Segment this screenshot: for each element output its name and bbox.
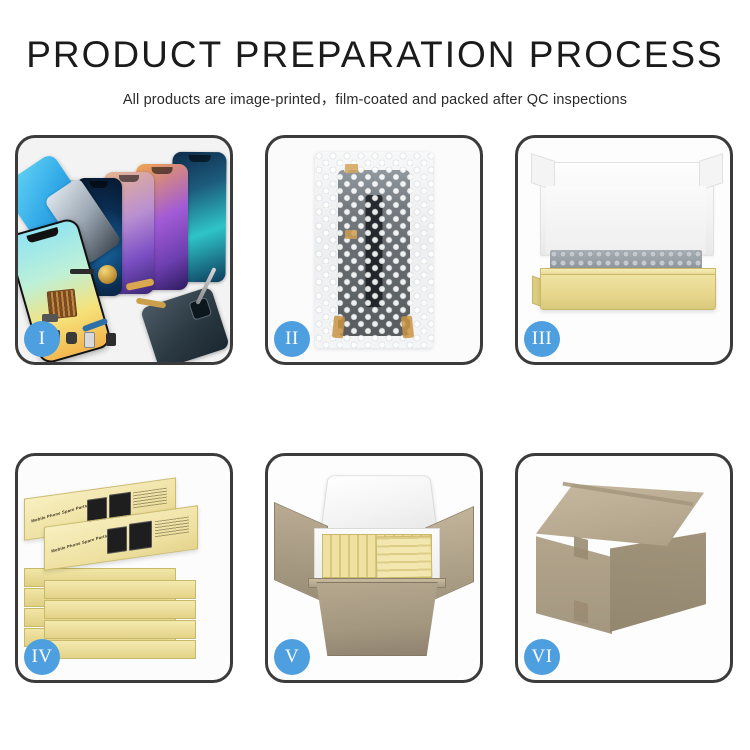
step-badge-i: I [24,321,60,357]
product-preparation-infographic: PRODUCT PREPARATION PROCESS All products… [0,0,750,750]
step-badge-vi: VI [524,639,560,675]
tape-piece-icon [574,536,588,560]
notch-icon [90,181,108,188]
phone-back-housing-icon [140,286,230,365]
notch-icon [26,227,59,244]
earpiece-speaker-icon [70,269,94,274]
yellow-inner-box-icon [540,274,716,310]
step-panel-ii: II [265,135,483,365]
stacked-box-icon [44,580,196,599]
notch-icon [119,175,139,182]
tape-piece-icon [332,315,345,338]
bubble-wrap-bag-icon [315,152,433,348]
tape-piece-icon [401,315,414,338]
process-steps-grid: I II [15,135,735,683]
carton-body-icon [308,582,446,656]
bubble-texture-icon [315,152,433,348]
foam-sheet-icon [546,186,706,254]
step-badge-iii: III [524,321,560,357]
lid-window-icon [129,521,152,551]
stacked-box-icon [44,640,196,659]
step-panel-iii: III [515,135,733,365]
header: PRODUCT PREPARATION PROCESS All products… [0,0,750,109]
step-panel-i: I [15,135,233,365]
lid-spec-text-icon [155,516,189,537]
small-part-icon [66,332,77,344]
box-lid-label: Mobile Phone Spare Parts [31,503,88,524]
notch-icon [189,155,211,162]
tape-piece-icon [345,230,357,239]
step-panel-iv: Mobile Phone Spare Parts Mobile Phone Sp… [15,453,233,683]
step-badge-ii: II [274,321,310,357]
stacked-box-icon [44,600,196,619]
page-title: PRODUCT PREPARATION PROCESS [0,36,750,75]
notch-icon [152,167,173,174]
small-part-icon [106,333,116,346]
step-badge-iv: IV [24,639,60,675]
lid-spec-text-icon [133,488,167,509]
step-badge-v: V [274,639,310,675]
step-panel-v: V [265,453,483,683]
page-subtitle: All products are image-printed，film-coat… [0,88,750,109]
lid-window-icon [107,526,127,554]
tape-piece-icon [345,164,358,173]
yellow-boxes-stack-icon [376,536,433,579]
tape-piece-icon [574,600,588,624]
stacked-box-icon [44,620,196,639]
sim-tray-icon [84,332,95,348]
step-panel-vi: VI [515,453,733,683]
box-lid-label: Mobile Phone Spare Parts [51,533,108,554]
vibration-motor-icon [98,265,117,284]
